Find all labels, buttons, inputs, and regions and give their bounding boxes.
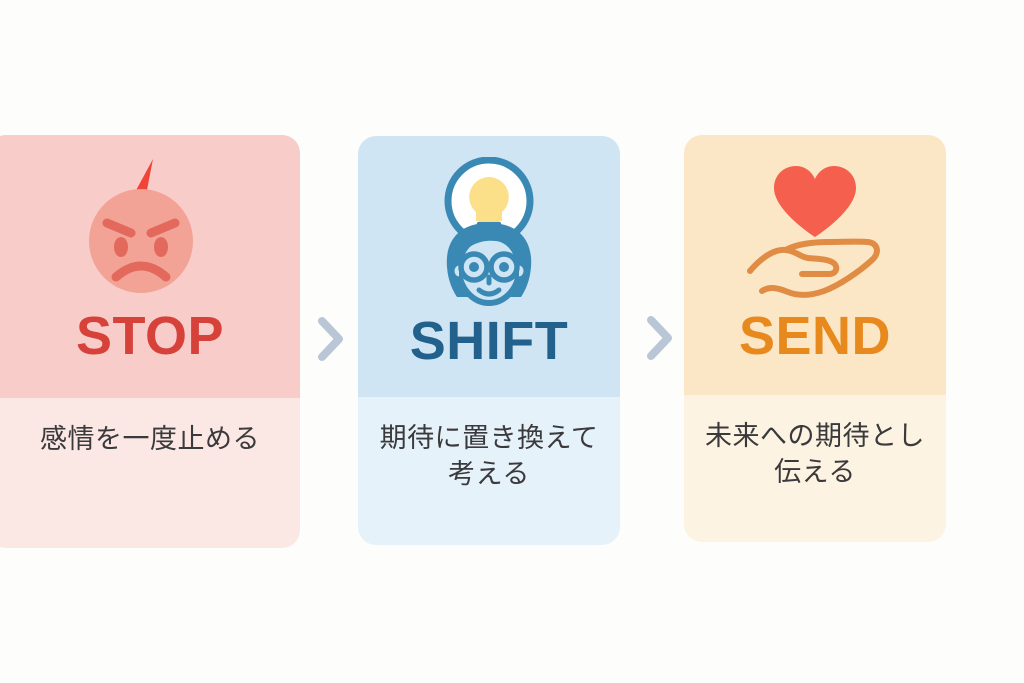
- chevron-right-icon-2: [645, 315, 675, 361]
- card-shift-icon-area: SHIFT: [358, 136, 620, 397]
- card-send-word: SEND: [739, 309, 891, 363]
- thinking-head-with-lightbulb-icon: [413, 158, 565, 308]
- card-stop[interactable]: STOP 感情を一度止める: [0, 135, 300, 548]
- card-send-caption-area: 未来への期待とし伝える: [684, 395, 946, 542]
- chevron-right-icon-1: [316, 316, 346, 362]
- card-stop-caption-area: 感情を一度止める: [0, 398, 300, 548]
- card-shift-caption-area: 期待に置き換えて考える: [358, 397, 620, 545]
- card-send[interactable]: SEND 未来への期待とし伝える: [684, 135, 946, 542]
- card-shift-caption: 期待に置き換えて考える: [369, 421, 609, 493]
- card-stop-caption: 感情を一度止める: [40, 422, 260, 458]
- card-shift[interactable]: SHIFT 期待に置き換えて考える: [358, 136, 620, 545]
- angry-face-with-lightning-icon: [69, 153, 219, 303]
- slide-canvas: STOP 感情を一度止める: [0, 0, 1024, 683]
- card-send-icon-area: SEND: [684, 135, 946, 395]
- card-shift-word: SHIFT: [410, 314, 569, 368]
- heart-in-hand-icon: [740, 161, 890, 303]
- card-stop-icon-area: STOP: [0, 135, 300, 398]
- card-send-caption: 未来への期待とし伝える: [695, 419, 935, 491]
- card-stop-word: STOP: [76, 309, 224, 363]
